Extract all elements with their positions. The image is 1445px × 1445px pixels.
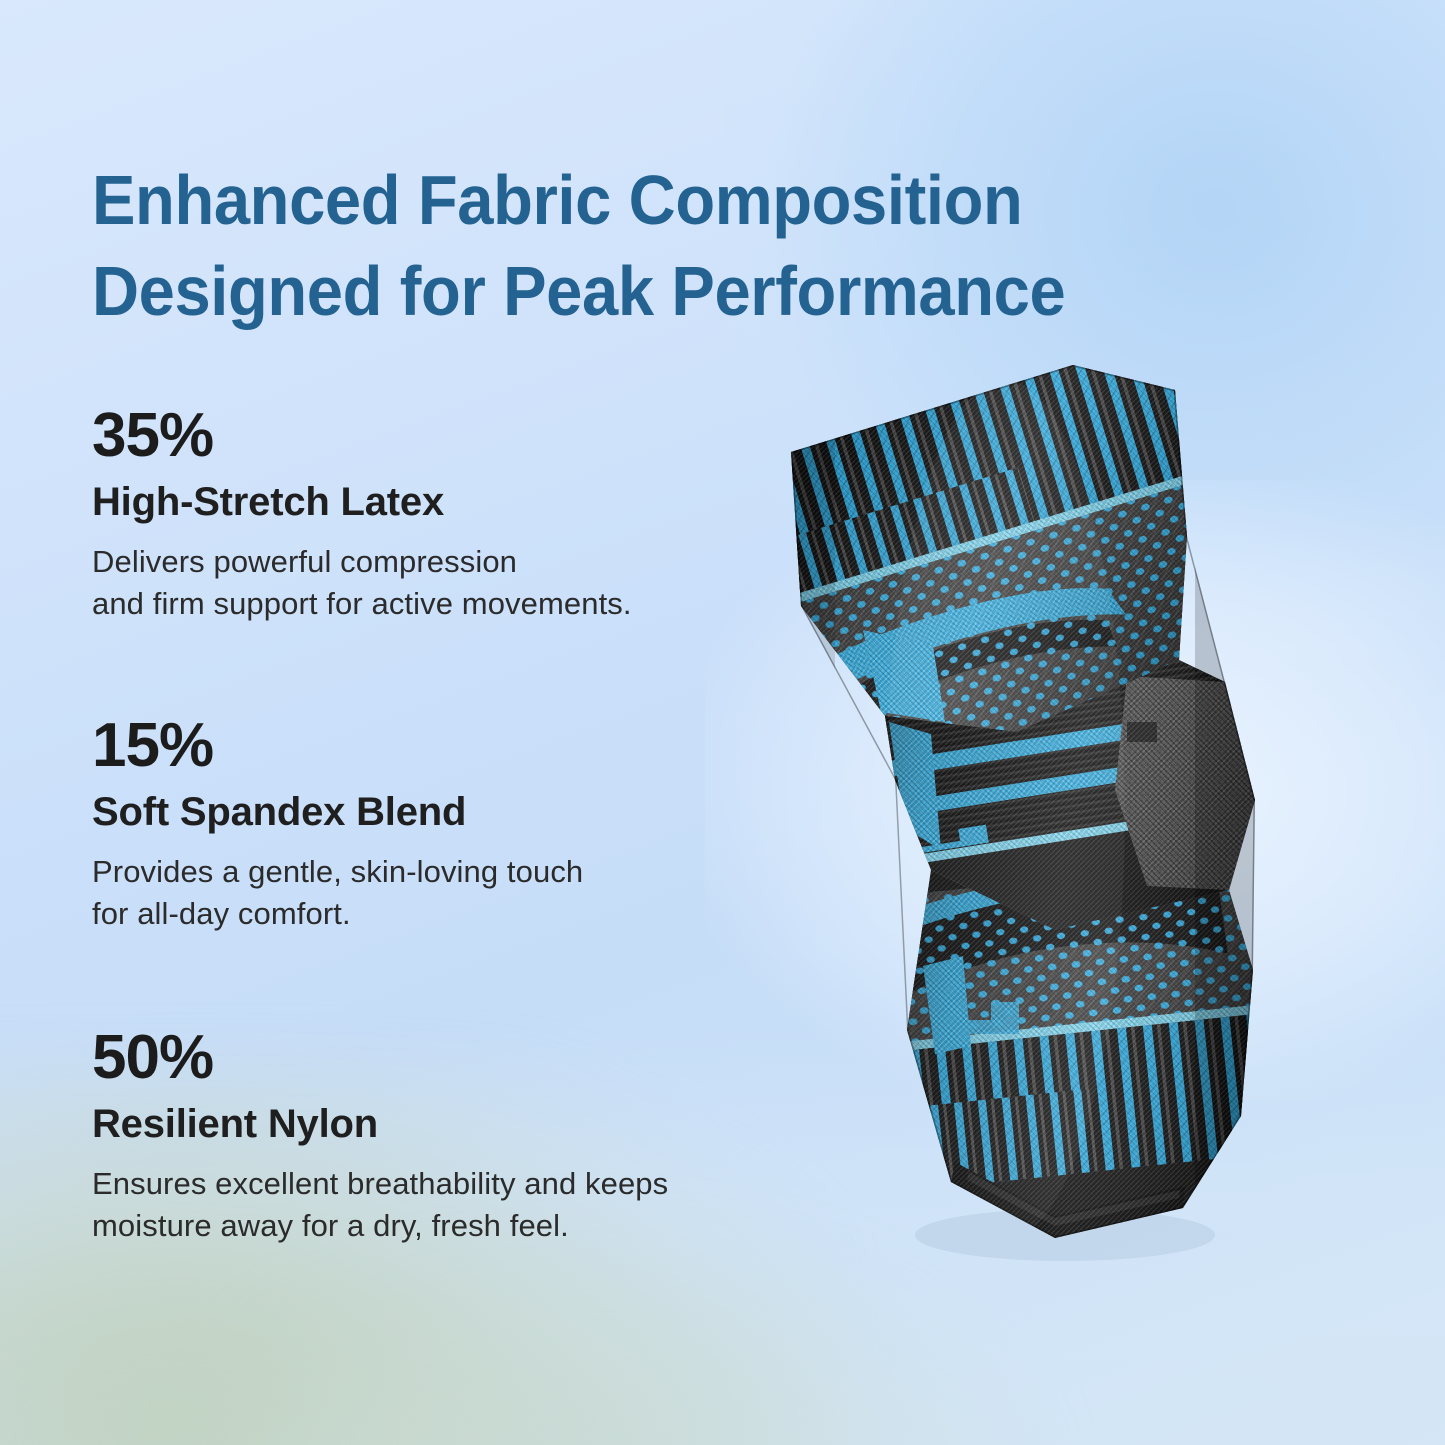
feature-description: Provides a gentle, skin-loving touch for… <box>92 851 583 936</box>
feature-description-line-2: for all-day comfort. <box>92 893 583 935</box>
feature-item-nylon: 50% Resilient Nylon Ensures excellent br… <box>92 1027 668 1248</box>
page-title-line-2: Designed for Peak Performance <box>92 246 1217 337</box>
feature-description-line-2: and firm support for active movements. <box>92 583 632 625</box>
feature-percent: 50% <box>92 1027 668 1089</box>
feature-description-line-1: Ensures excellent breathability and keep… <box>92 1163 668 1205</box>
feature-percent: 35% <box>92 405 632 467</box>
feature-item-latex: 35% High-Stretch Latex Delivers powerful… <box>92 405 632 626</box>
feature-description-line-1: Delivers powerful compression <box>92 541 632 583</box>
page-title-line-1: Enhanced Fabric Composition <box>92 155 1217 246</box>
infographic-canvas: { "theme": { "headline_color": "#246291"… <box>0 0 1445 1445</box>
feature-title: High-Stretch Latex <box>92 479 632 525</box>
feature-percent: 15% <box>92 715 583 777</box>
product-image-knee-sleeve <box>755 330 1335 1350</box>
feature-description: Delivers powerful compression and firm s… <box>92 541 632 626</box>
feature-description-line-1: Provides a gentle, skin-loving touch <box>92 851 583 893</box>
feature-description: Ensures excellent breathability and keep… <box>92 1163 668 1248</box>
feature-item-spandex: 15% Soft Spandex Blend Provides a gentle… <box>92 715 583 936</box>
feature-title: Soft Spandex Blend <box>92 789 583 835</box>
page-title: Enhanced Fabric Composition Designed for… <box>92 155 1217 337</box>
feature-title: Resilient Nylon <box>92 1101 668 1147</box>
feature-description-line-2: moisture away for a dry, fresh feel. <box>92 1205 668 1247</box>
